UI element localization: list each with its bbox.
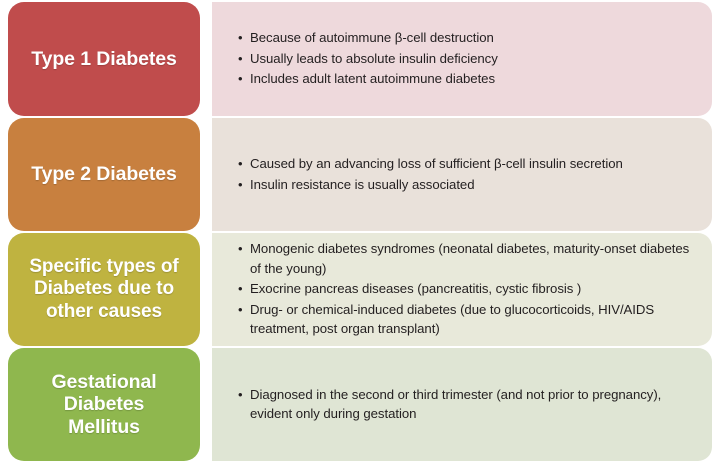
- list-item: Because of autoimmune β-cell destruction: [238, 28, 694, 47]
- bullet-list: Caused by an advancing loss of sufficien…: [238, 154, 694, 195]
- list-item: Diagnosed in the second or third trimest…: [238, 385, 694, 424]
- diagram-row-type-2-diabetes: Type 2 Diabetes Caused by an advancing l…: [0, 118, 720, 231]
- category-label-text: Gestational Diabetes Mellitus: [51, 371, 156, 439]
- list-item: Exocrine pancreas diseases (pancreatitis…: [238, 279, 694, 298]
- diagram-row-type-1-diabetes: Type 1 Diabetes Because of autoimmune β-…: [0, 2, 720, 116]
- diabetes-classification-diagram: Type 1 Diabetes Because of autoimmune β-…: [0, 0, 720, 463]
- diagram-row-specific-types-other-causes: Specific types of Diabetes due to other …: [0, 233, 720, 346]
- list-item: Drug- or chemical-induced diabetes (due …: [238, 300, 694, 339]
- category-content-panel-specific-types-other-causes: Monogenic diabetes syndromes (neonatal d…: [212, 233, 712, 346]
- category-label-text: Type 1 Diabetes: [31, 48, 177, 71]
- list-item: Usually leads to absolute insulin defici…: [238, 49, 694, 68]
- category-label-box-gestational-diabetes-mellitus[interactable]: Gestational Diabetes Mellitus: [8, 348, 200, 461]
- category-label-text: Specific types of Diabetes due to other …: [29, 256, 178, 322]
- category-label-box-type-2-diabetes[interactable]: Type 2 Diabetes: [8, 118, 200, 231]
- bullet-list: Diagnosed in the second or third trimest…: [238, 385, 694, 425]
- category-label-text: Type 2 Diabetes: [31, 163, 177, 186]
- category-label-box-specific-types-other-causes[interactable]: Specific types of Diabetes due to other …: [8, 233, 200, 346]
- list-item: Caused by an advancing loss of sufficien…: [238, 154, 694, 173]
- bullet-list: Monogenic diabetes syndromes (neonatal d…: [238, 239, 694, 339]
- category-content-panel-gestational-diabetes-mellitus: Diagnosed in the second or third trimest…: [212, 348, 712, 461]
- category-content-panel-type-2-diabetes: Caused by an advancing loss of sufficien…: [212, 118, 712, 231]
- bullet-list: Because of autoimmune β-cell destruction…: [238, 28, 694, 89]
- list-item: Insulin resistance is usually associated: [238, 175, 694, 194]
- category-content-panel-type-1-diabetes: Because of autoimmune β-cell destruction…: [212, 2, 712, 116]
- list-item: Monogenic diabetes syndromes (neonatal d…: [238, 239, 694, 278]
- diagram-row-gestational-diabetes-mellitus: Gestational Diabetes Mellitus Diagnosed …: [0, 348, 720, 461]
- list-item: Includes adult latent autoimmune diabete…: [238, 69, 694, 88]
- category-label-box-type-1-diabetes[interactable]: Type 1 Diabetes: [8, 2, 200, 116]
